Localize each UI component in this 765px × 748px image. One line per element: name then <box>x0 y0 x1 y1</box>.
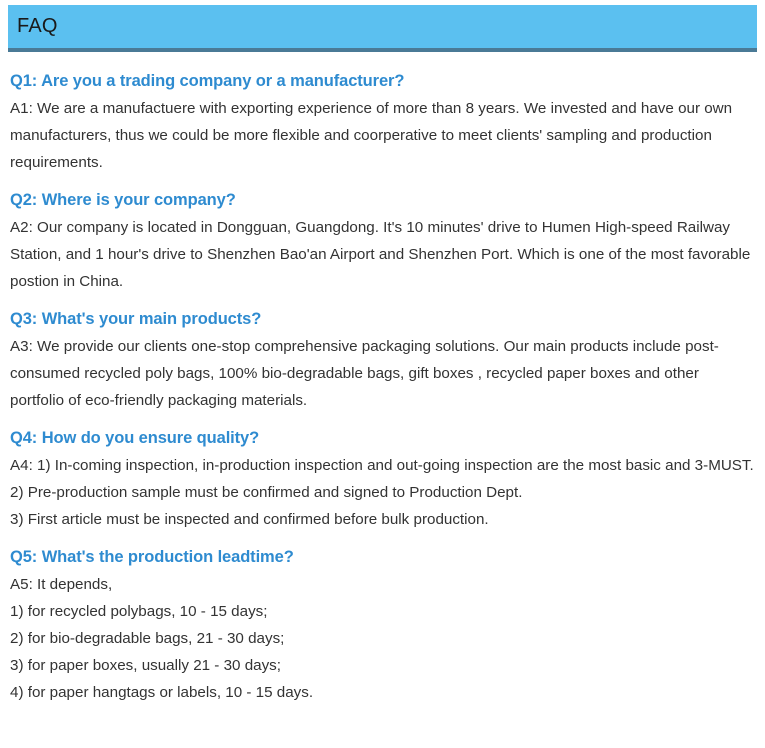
faq-answer-line: A4: 1) In-coming inspection, in-producti… <box>10 452 755 479</box>
faq-list: Q1: Are you a trading company or a manuf… <box>10 68 755 706</box>
faq-answer-line: 1) for recycled polybags, 10 - 15 days; <box>10 598 755 625</box>
faq-item-q1: Q1: Are you a trading company or a manuf… <box>10 68 755 176</box>
faq-item-q2: Q2: Where is your company? A2: Our compa… <box>10 187 755 295</box>
faq-page: FAQ Q1: Are you a trading company or a m… <box>0 0 765 748</box>
faq-answer-q3: A3: We provide our clients one-stop comp… <box>10 333 755 414</box>
faq-question-q4: Q4: How do you ensure quality? <box>10 425 755 452</box>
faq-answer-line: 3) First article must be inspected and c… <box>10 506 755 533</box>
faq-question-q3: Q3: What's your main products? <box>10 306 755 333</box>
page-title: FAQ <box>17 13 58 39</box>
faq-answer-line: 2) Pre-production sample must be confirm… <box>10 479 755 506</box>
faq-item-q4: Q4: How do you ensure quality? A4: 1) In… <box>10 425 755 533</box>
faq-question-q5: Q5: What's the production leadtime? <box>10 544 755 571</box>
faq-answer-q4: A4: 1) In-coming inspection, in-producti… <box>10 452 755 533</box>
faq-answer-q5: A5: It depends, 1) for recycled polybags… <box>10 571 755 706</box>
faq-answer-q2: A2: Our company is located in Dongguan, … <box>10 214 755 295</box>
faq-item-q5: Q5: What's the production leadtime? A5: … <box>10 544 755 706</box>
faq-answer-line: A5: It depends, <box>10 571 755 598</box>
faq-answer-line: 3) for paper boxes, usually 21 - 30 days… <box>10 652 755 679</box>
faq-answer-q1: A1: We are a manufactuere with exporting… <box>10 95 755 176</box>
faq-question-q1: Q1: Are you a trading company or a manuf… <box>10 68 755 95</box>
faq-answer-line: 4) for paper hangtags or labels, 10 - 15… <box>10 679 755 706</box>
faq-answer-line: 2) for bio-degradable bags, 21 - 30 days… <box>10 625 755 652</box>
faq-item-q3: Q3: What's your main products? A3: We pr… <box>10 306 755 414</box>
faq-header-banner: FAQ <box>8 5 757 52</box>
faq-question-q2: Q2: Where is your company? <box>10 187 755 214</box>
